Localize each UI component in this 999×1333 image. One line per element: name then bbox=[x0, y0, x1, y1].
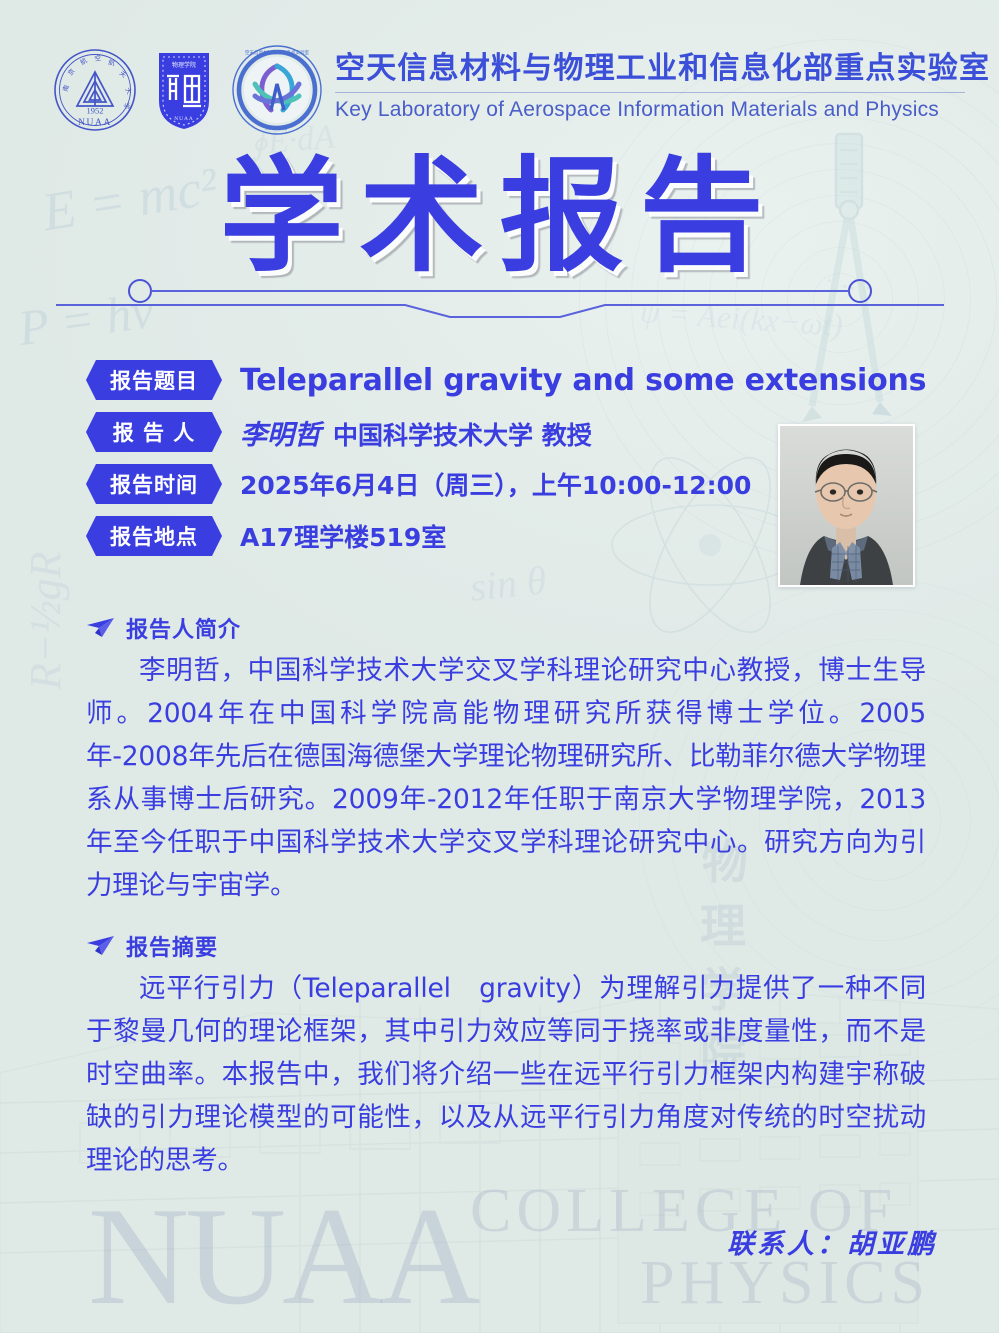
key-lab-atom-logo: 空天信息材料与物理重点实验室 NUAA bbox=[231, 44, 323, 136]
svg-text:NUAA: NUAA bbox=[266, 126, 289, 132]
poster-root: E = mc² P = hν sin θ ∮E·dA ψ = Aei(kx−ωt… bbox=[0, 0, 999, 1333]
svg-text:空天信息材料与物理重点实验室: 空天信息材料与物理重点实验室 bbox=[245, 49, 310, 56]
lab-name-block: 空天信息材料与物理工业和信息化部重点实验室 Key Laboratory of … bbox=[335, 50, 975, 122]
logo-group: 1952 NUAA 南 京 航 空 航 天 大 学 物理学院 bbox=[53, 44, 323, 136]
contact-person: 联系人：胡亚鹏 bbox=[727, 1222, 937, 1261]
title-block: 学术报告 bbox=[0, 152, 999, 312]
lab-name-cn: 空天信息材料与物理工业和信息化部重点实验室 bbox=[335, 50, 975, 88]
paper-plane-icon bbox=[86, 934, 116, 958]
value-topic: Teleparallel gravity and some extensions bbox=[240, 363, 926, 398]
svg-text:南: 南 bbox=[60, 83, 71, 92]
svg-text:大: 大 bbox=[123, 86, 134, 96]
background-formula-6: R−½gR bbox=[20, 552, 71, 690]
section-abstract: 报告摘要 远平行引力（Teleparallel gravity）为理解引力提供了… bbox=[86, 930, 926, 1183]
svg-text:NUAA: NUAA bbox=[78, 118, 112, 128]
section-body-bio: 李明哲，中国科学技术大学交叉学科理论研究中心教授，博士生导师。2004年在中国科… bbox=[86, 650, 926, 908]
section-body-abstract: 远平行引力（Teleparallel gravity）为理解引力提供了一种不同于… bbox=[86, 968, 926, 1183]
value-speaker: 李明哲中国科学技术大学 教授 bbox=[240, 413, 592, 452]
svg-text:航: 航 bbox=[108, 57, 117, 67]
svg-text:1952: 1952 bbox=[87, 106, 104, 116]
paper-plane-icon bbox=[86, 616, 116, 640]
section-heading-bio: 报告人简介 bbox=[86, 612, 926, 644]
info-row-topic: 报告题目 Teleparallel gravity and some exten… bbox=[86, 358, 916, 402]
speaker-affiliation: 中国科学技术大学 教授 bbox=[333, 421, 592, 450]
svg-text:物理学院: 物理学院 bbox=[172, 61, 196, 69]
label-badge-location: 报告地点 bbox=[86, 516, 222, 556]
label-badge-speaker: 报 告 人 bbox=[86, 412, 222, 452]
section-heading-abstract: 报告摘要 bbox=[86, 930, 926, 962]
nuaa-seal-logo: 1952 NUAA 南 京 航 空 航 天 大 学 bbox=[53, 48, 137, 132]
svg-text:空: 空 bbox=[94, 53, 102, 63]
speaker-name: 李明哲 bbox=[240, 420, 321, 451]
svg-text:航: 航 bbox=[78, 55, 89, 66]
lab-name-en: Key Laboratory of Aerospace Information … bbox=[335, 98, 975, 122]
value-location: A17理学楼519室 bbox=[240, 518, 446, 554]
section-title-abstract: 报告摘要 bbox=[126, 930, 218, 962]
lab-name-divider bbox=[335, 92, 965, 93]
poster-header: 1952 NUAA 南 京 航 空 航 天 大 学 物理学院 bbox=[0, 0, 999, 142]
watermark-nuaa: NUAA bbox=[88, 1176, 476, 1333]
label-badge-topic: 报告题目 bbox=[86, 360, 222, 400]
page-title: 学术报告 bbox=[0, 152, 999, 282]
section-title-bio: 报告人简介 bbox=[126, 612, 241, 644]
speaker-photo bbox=[778, 424, 915, 587]
svg-text:NUAA: NUAA bbox=[174, 116, 194, 122]
speaker-portrait-illustration bbox=[780, 426, 913, 585]
section-speaker-bio: 报告人简介 李明哲，中国科学技术大学交叉学科理论研究中心教授，博士生导师。200… bbox=[86, 612, 926, 908]
label-badge-time: 报告时间 bbox=[86, 464, 222, 504]
physics-college-shield-logo: 物理学院 NUAA bbox=[155, 48, 213, 132]
value-time: 2025年6月4日（周三），上午10:00-12:00 bbox=[240, 466, 751, 502]
svg-text:天: 天 bbox=[118, 69, 128, 80]
